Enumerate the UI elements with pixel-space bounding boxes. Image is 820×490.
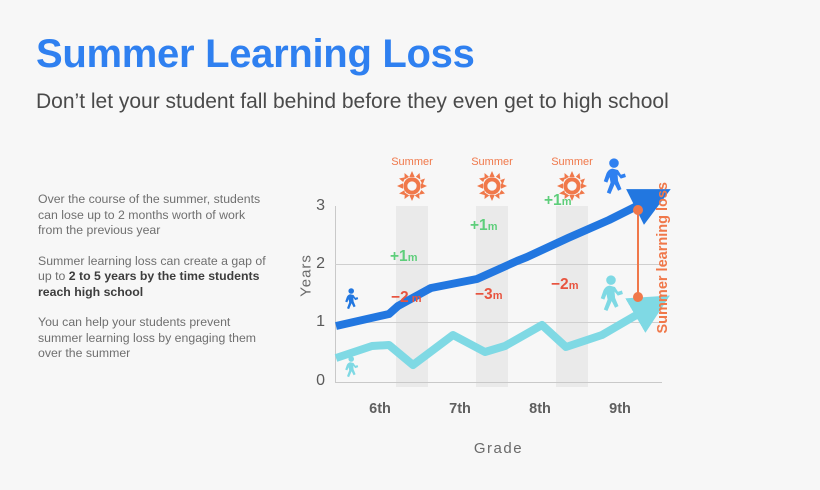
paragraph-2-emphasis: 2 to 5 years by the time students reach …	[38, 269, 259, 299]
paragraph-2: Summer learning loss can create a gap of…	[38, 254, 268, 301]
annotation-gain-3: +1m	[544, 192, 571, 210]
walking-person-blue-large-icon	[600, 158, 629, 199]
annotation-gain-1: +1m	[390, 248, 417, 266]
annotation-gain-2: +1m	[470, 217, 497, 235]
infographic-page: Summer Learning Loss Don’t let your stud…	[0, 0, 820, 490]
annotation-loss-3: −2m	[551, 276, 578, 294]
annotation-loss-2: −3m	[475, 286, 502, 304]
walking-person-cyan-large-icon	[597, 275, 626, 316]
paragraph-3: You can help your students prevent summe…	[38, 315, 268, 362]
page-title: Summer Learning Loss	[36, 32, 475, 77]
walking-person-blue-small-icon	[343, 288, 360, 312]
summer-learning-loss-label: Summer learning loss	[655, 182, 671, 334]
annotation-loss-1: −2 m	[391, 289, 422, 307]
body-copy: Over the course of the summer, students …	[38, 192, 268, 362]
paragraph-1: Over the course of the summer, students …	[38, 192, 268, 239]
walking-person-cyan-small-icon	[343, 356, 360, 380]
page-subtitle: Don’t let your student fall behind befor…	[36, 90, 669, 114]
summer-learning-loss-chart: Summer Summer Summer	[285, 145, 705, 465]
